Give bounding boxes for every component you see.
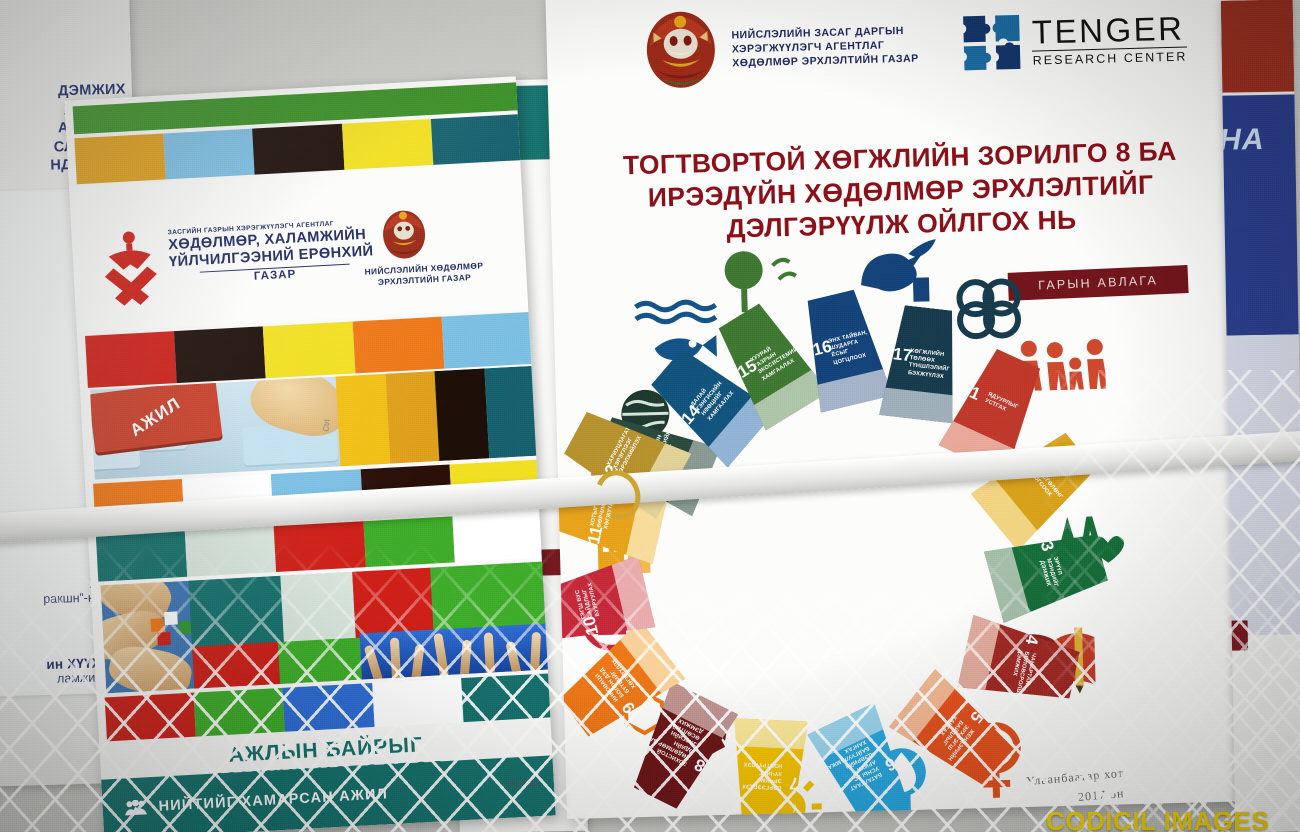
gov-agency-text: НИЙСЛЭЛИЙН ЗАСАГ ДАРГЫН ХЭРЭГЖҮҮЛЭГЧ АГЕ… (731, 24, 918, 71)
poster-sdg-handbook: НИЙСЛЭЛИЙН ЗАСАГ ДАРГЫН ХЭРЭГЖҮҮЛЭГЧ АГЕ… (545, 0, 1266, 819)
sdg-label: ЭРҮҮЛ МЭНДИЙГ ДЭМЖИХ (1037, 556, 1070, 606)
city-label-fragment: аатар (506, 774, 540, 790)
sdg-label: ЯДУУРЛЫГ УСТГАХ (983, 392, 1031, 424)
keyboard-key-label: АЖИЛ (127, 394, 185, 441)
rings-icon (945, 271, 1033, 345)
footer-label: НИЙТИЙГ ХАМАРСАН АЖИЛ (158, 786, 388, 814)
sdg-label: ЭНХ ТАЙВАН, ШУДАРГА ЁСЫГ ЦОГЦЛООХ (828, 328, 879, 367)
far-white-band (1227, 334, 1300, 635)
sdg-label: ТЭГШ БУС БАЙДЛЫГ БУУРУУЛАХ (571, 570, 603, 620)
tenger-logo: TENGER RESEARCH CENTER (961, 9, 1187, 73)
far-blue-band: НА (1221, 94, 1300, 335)
sdg-wheel: 13 УУР АМЬСГАЛЫН ӨӨРЧЛӨЛТИЙН ҮР НӨЛӨӨГ Б… (552, 225, 1267, 819)
photo-scene: ДЭМЖИХ ХАРЬЯА АМЖИЙН СЛЭЛИЙН НДААРАЙ. эс… (0, 0, 1300, 832)
sdg-label: ХУУРАЙ ГАЗРЫН ЭКОСИСТЕМИЙГ ХАМГААЛАХ (750, 334, 804, 383)
tree-icon (716, 245, 810, 317)
sdg-label: СЭРГЭЭГДЭХ ЭРЧИМ ХҮЧИЙГ НЭВТРҮҮЛЭХ (735, 759, 782, 790)
mongolia-emblem-icon (379, 207, 430, 262)
sdg-label: ИННОВАЦИ БОЛОН ДЭД БҮТЦИЙГ ХӨГЖҮҮЛЭХ (587, 648, 638, 702)
labour-welfare-logo-icon (97, 228, 163, 307)
people-icon (124, 799, 147, 816)
far-red-band (1221, 0, 1295, 93)
poster-employment-program: ЗАСГИЙН ГАЗРЫН ХЭРЭГЖҮҮЛЭГЧ АГЕНТЛАГ ХӨД… (64, 76, 555, 832)
mongolia-emblem-icon (641, 9, 721, 93)
poster-far-right-partial: НА (1221, 0, 1300, 832)
sdg-poster-header: НИЙСЛЭЛИЙН ЗАСАГ ДАРГЫН ХЭРЭГЖҮҮЛЭГЧ АГЕ… (641, 0, 1223, 93)
sdg-number: 1 (966, 383, 983, 405)
watermark: CODICIL IMAGES (1046, 806, 1269, 832)
puzzle-logo-icon (961, 13, 1022, 73)
sdg-label: ЧАНАРТАЙ БОЛОВСРОЛЫГ ДЭМЖИХ (1005, 649, 1036, 699)
brand-name: TENGER (1032, 12, 1188, 50)
hands-puzzle-photo (101, 562, 550, 694)
dove-icon (842, 233, 954, 308)
sdg-label: ХӨГЖЛИЙН ТӨЛӨӨХ ТҮНШЛЭЛИЙГ БЭХЖҮҮЛЭХ (908, 348, 957, 382)
